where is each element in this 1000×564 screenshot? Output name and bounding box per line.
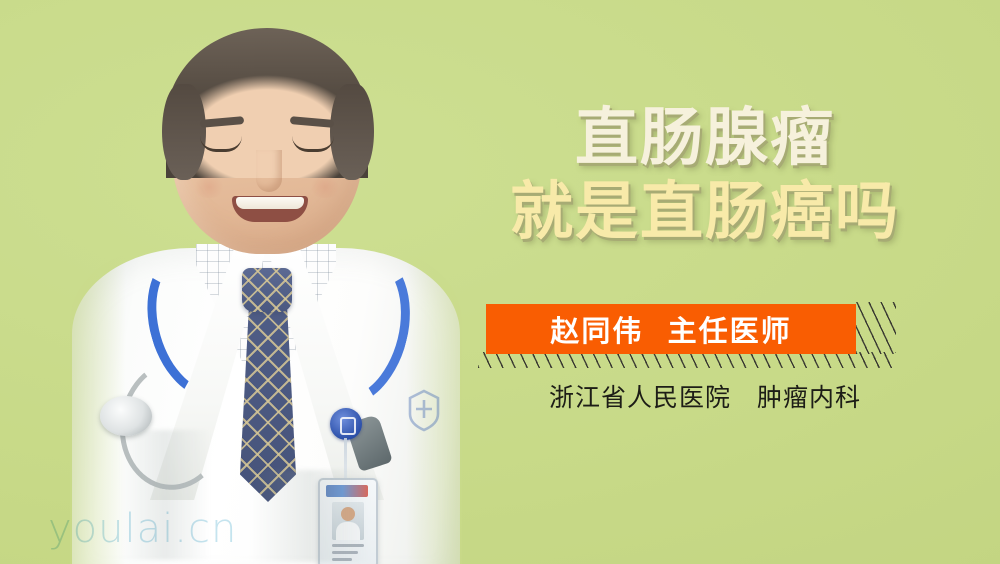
necktie-knot — [242, 268, 292, 312]
doctor-portrait — [0, 0, 470, 564]
cheek-right — [308, 176, 342, 198]
hair-side-right — [330, 84, 374, 180]
headline-line-2: 就是直肠癌吗 — [470, 178, 940, 246]
badge-reel-icon — [330, 408, 362, 440]
hatch-decoration-right — [856, 302, 896, 354]
speaker-banner: 赵同伟 主任医师 — [486, 304, 856, 354]
hair-side-left — [162, 84, 206, 180]
video-thumbnail: 直肠腺瘤 就是直肠癌吗 赵同伟 主任医师 浙江省人民医院 肿瘤内科 youlai… — [0, 0, 1000, 564]
hospital-crest-icon — [404, 388, 444, 432]
teeth — [236, 197, 304, 209]
headline-line-1: 直肠腺瘤 — [470, 104, 940, 172]
speaker-name-title: 赵同伟 主任医师 — [550, 308, 791, 350]
site-watermark: youlai.cn — [48, 506, 237, 552]
cheek-left — [192, 176, 226, 198]
headline: 直肠腺瘤 就是直肠癌吗 — [470, 104, 940, 246]
affiliation-line: 浙江省人民医院 肿瘤内科 — [470, 378, 940, 414]
smiling-mouth — [232, 196, 308, 222]
hatch-decoration-bottom — [478, 352, 896, 368]
coat-fold — [250, 470, 370, 562]
nose — [256, 150, 282, 192]
